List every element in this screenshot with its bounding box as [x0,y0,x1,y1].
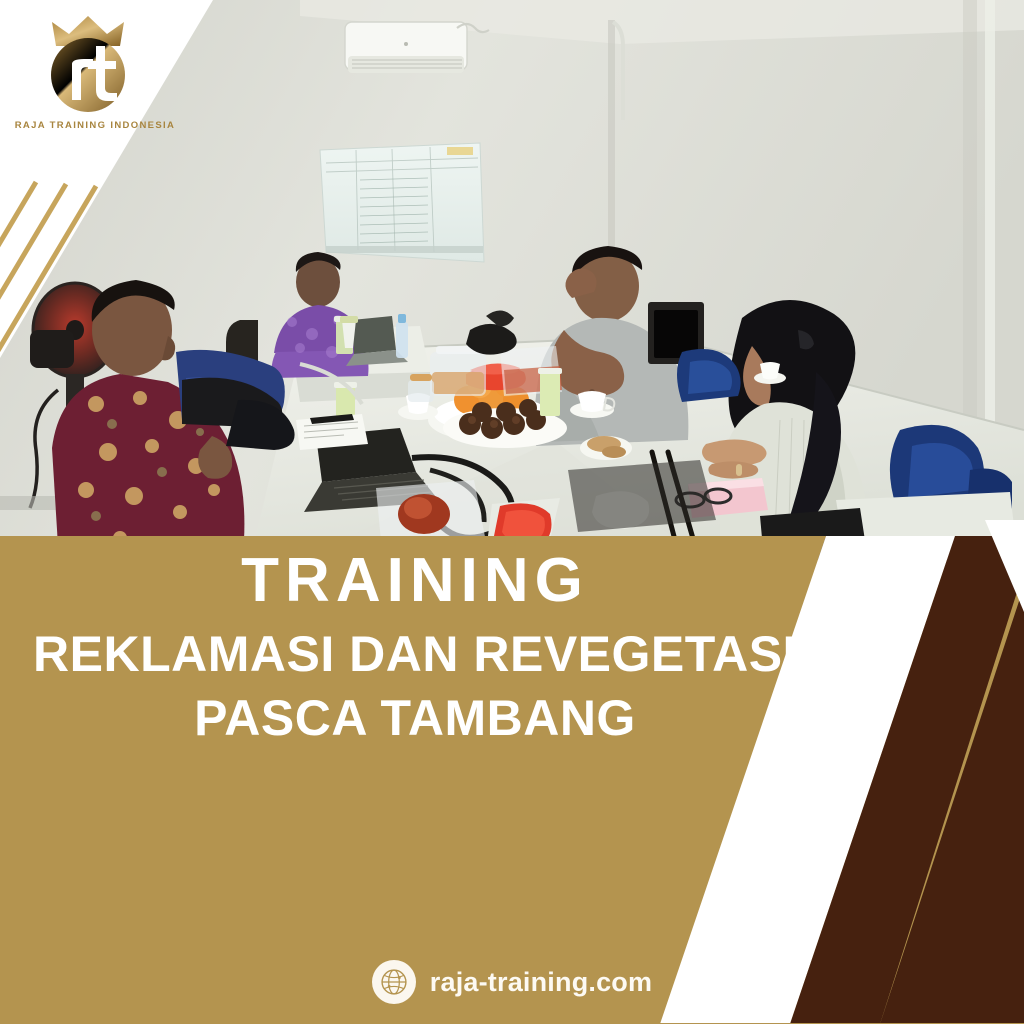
right-white-wedge [0,0,1024,1024]
poster-canvas: RAJA TRAINING INDONESIA TRAINING REKLAMA… [0,0,1024,1024]
brand-logo[interactable]: RAJA TRAINING INDONESIA [10,12,180,140]
globe-icon [372,960,416,1004]
footer-website-url[interactable]: raja-training.com [430,967,652,998]
crown-rt-monogram-icon [32,12,148,117]
title-block: TRAINING REKLAMASI DAN REVEGETASI PASCA … [0,536,830,786]
footer-bar: raja-training.com [0,952,1024,1012]
title-sub-line-1: REKLAMASI DAN REVEGETASI [33,626,797,682]
title-sub-line-2: PASCA TAMBANG [194,690,636,746]
brand-tagline: RAJA TRAINING INDONESIA [10,120,180,131]
title-main: TRAINING [241,548,589,614]
